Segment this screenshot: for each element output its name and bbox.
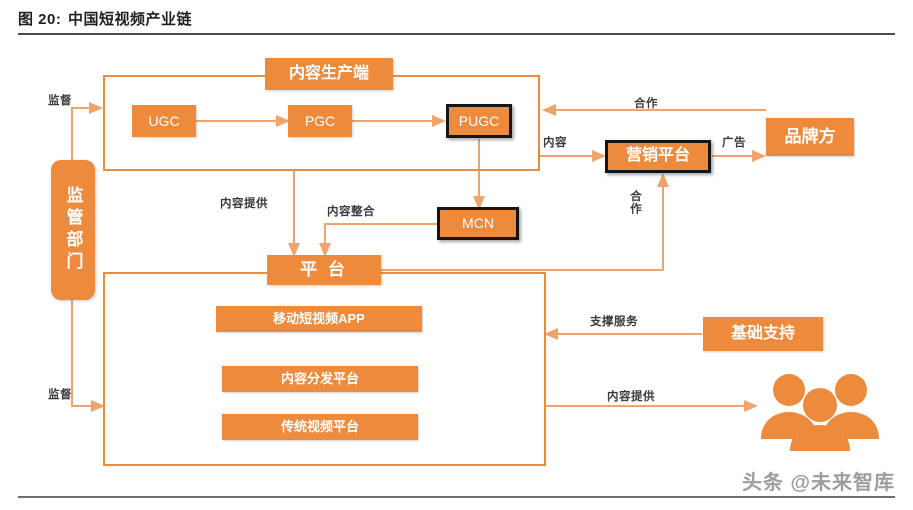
title-divider [18,33,895,35]
label-supervise-top: 监督 [48,92,72,108]
bottom-divider [18,496,895,498]
node-brand[interactable]: 品牌方 [766,118,854,156]
platform-item-traditional-video[interactable]: 传统视频平台 [222,414,418,440]
label-supervise-bottom: 监督 [48,386,72,402]
label-content-integration: 内容整合 [327,203,375,219]
node-infrastructure[interactable]: 基础支持 [703,317,823,351]
node-marketing-platform[interactable]: 营销平台 [605,140,711,173]
node-ugc[interactable]: UGC [132,105,196,137]
node-pugc[interactable]: PUGC [446,104,512,138]
label-content-supply-left: 内容提供 [220,195,268,211]
node-mcn[interactable]: MCN [437,207,519,240]
node-platform[interactable]: 平 台 [267,255,381,285]
label-cooperation-top: 合作 [634,95,658,111]
label-content: 内容 [543,134,567,150]
people-group-icon [756,367,884,451]
figure-number: 图 20: [18,11,61,28]
label-cooperation-vertical: 合作 [627,190,643,215]
figure-canvas: 图 20: 中国短视频产业链 [0,0,913,510]
label-support-service: 支撑服务 [590,313,638,329]
platform-item-mobile-app[interactable]: 移动短视频APP [216,306,422,332]
node-regulator[interactable]: 监管部门 [51,160,95,300]
watermark: 头条 @未来智库 [742,466,895,495]
figure-title-text: 中国短视频产业链 [68,11,192,28]
platform-item-distribution[interactable]: 内容分发平台 [222,366,418,392]
node-pgc[interactable]: PGC [288,105,352,137]
node-content-production[interactable]: 内容生产端 [265,58,393,90]
label-content-supply-right: 内容提供 [607,388,655,404]
page-title: 图 20: 中国短视频产业链 [18,8,192,29]
label-advertising: 广告 [722,134,746,150]
